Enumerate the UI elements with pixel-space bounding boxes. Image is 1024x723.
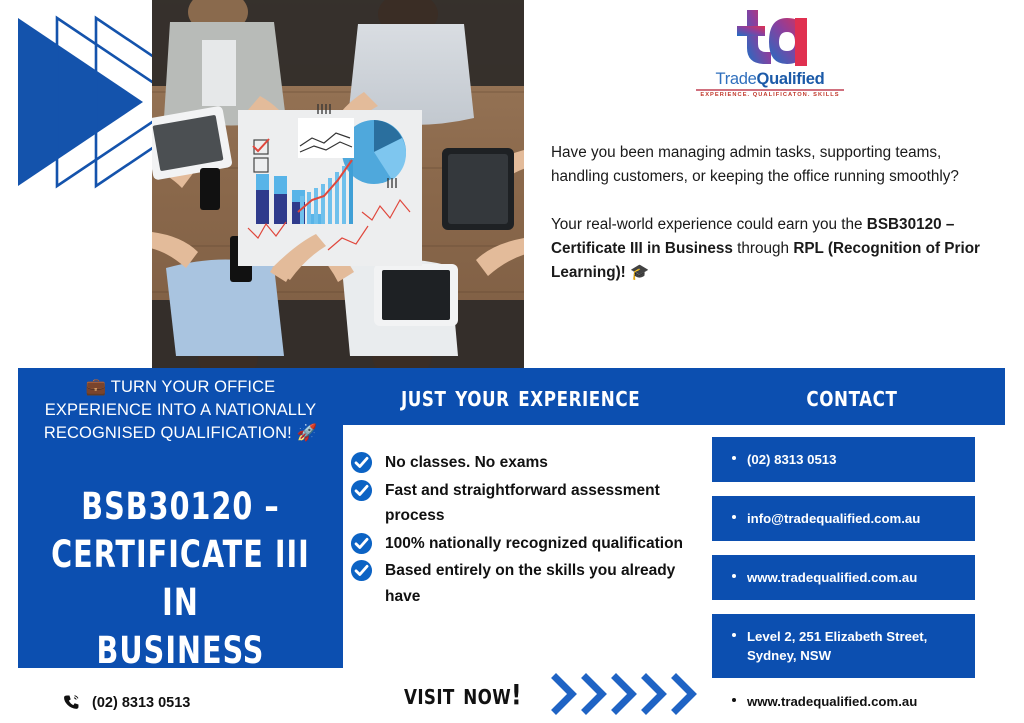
intro-mid: through [733,240,793,257]
benefit-text: 100% nationally recognized qualification [385,531,683,557]
contact-item-phone[interactable]: (02) 8313 0513 [712,437,975,482]
panel-kicker: 💼 TURN YOUR OFFICE EXPERIENCE INTO A NAT… [18,368,343,445]
bullet-icon [732,698,736,702]
benefit-text: Fast and straightforward assessment proc… [385,478,690,529]
panel-title: BSB30120 – CERTIFICATE III IN BUSINESS [41,483,321,675]
bullet-icon [732,456,736,460]
check-circle-icon [350,559,373,582]
benefits-header-band: Just your experience [343,368,698,425]
panel-title-line-1: BSB30120 – [41,483,321,531]
check-circle-icon [350,532,373,555]
course-highlight-panel: 💼 TURN YOUR OFFICE EXPERIENCE INTO A NAT… [18,368,343,668]
bullet-icon [732,515,736,519]
visit-now-arrows [551,673,701,715]
contact-header-title: Contact [806,380,897,413]
list-item: Based entirely on the skills you already… [350,558,690,609]
benefit-text: No classes. No exams [385,450,548,476]
hero-photo [152,0,524,370]
list-item: Fast and straightforward assessment proc… [350,478,690,529]
logo-word-trade: Trade [716,70,757,88]
panel-title-line-3: BUSINESS [41,627,321,675]
contact-item-text: info@tradequalified.com.au [747,509,920,528]
intro-paragraph-1: Have you been managing admin tasks, supp… [551,141,1003,189]
chevron-right-icon [551,673,581,715]
benefits-header-title: Just your experience [401,380,640,413]
intro-copy: Have you been managing admin tasks, supp… [551,141,1003,285]
logo-divider [696,89,844,90]
panel-title-line-2: CERTIFICATE III IN [41,531,321,627]
benefits-list: No classes. No exams Fast and straightfo… [350,450,690,611]
logo-word-qualified: Qualified [757,70,825,88]
ta-monogram-icon [725,8,815,70]
meeting-photo-illustration [152,0,524,370]
phone-icon [62,693,81,712]
footer-phone-number: (02) 8313 0513 [92,695,190,711]
bullet-icon [732,633,736,637]
contact-item-text: www.tradequalified.com.au [747,568,917,587]
contact-header-band: Contact [698,368,1005,425]
list-item: No classes. No exams [350,450,690,476]
graduation-cap-icon: 🎓 [630,264,649,281]
panel-kicker-text: TURN YOUR OFFICE EXPERIENCE INTO A NATIO… [44,378,316,442]
contact-item-website-plain[interactable]: www.tradequalified.com.au [712,692,975,711]
chevron-right-icon [671,673,701,715]
contact-item-text: (02) 8313 0513 [747,450,836,469]
rocket-icon: 🚀 [296,424,317,442]
contact-item-website[interactable]: www.tradequalified.com.au [712,555,975,600]
benefit-text: Based entirely on the skills you already… [385,558,690,609]
check-circle-icon [350,451,373,474]
logo-wordmark: TradeQualified [690,71,850,88]
contact-item-text: www.tradequalified.com.au [747,692,917,711]
visit-now-label: Visit Now! [404,678,522,711]
intro-lead: Your real-world experience could earn yo… [551,216,867,233]
check-circle-icon [350,479,373,502]
contact-item-text: Level 2, 251 Elizabeth Street, Sydney, N… [747,627,961,665]
bullet-icon [732,574,736,578]
chevron-right-icon [611,673,641,715]
brand-logo: TradeQualified EXPERIENCE. QUALIFICATON.… [690,8,850,108]
nested-triangles-arrow-icon [0,0,160,200]
intro-paragraph-2: Your real-world experience could earn yo… [551,213,1003,285]
list-item: 100% nationally recognized qualification [350,531,690,557]
visit-now-cta[interactable]: Visit Now! [404,673,701,715]
decorative-triangles [0,0,160,200]
contact-item-email[interactable]: info@tradequalified.com.au [712,496,975,541]
chevron-right-icon [641,673,671,715]
contact-list: (02) 8313 0513 info@tradequalified.com.a… [712,437,975,711]
chevron-right-icon [581,673,611,715]
footer-phone[interactable]: (02) 8313 0513 [62,693,190,712]
logo-tagline: EXPERIENCE. QUALIFICATON. SKILLS [690,92,850,98]
briefcase-icon: 💼 [86,378,107,396]
contact-item-address[interactable]: Level 2, 251 Elizabeth Street, Sydney, N… [712,614,975,678]
